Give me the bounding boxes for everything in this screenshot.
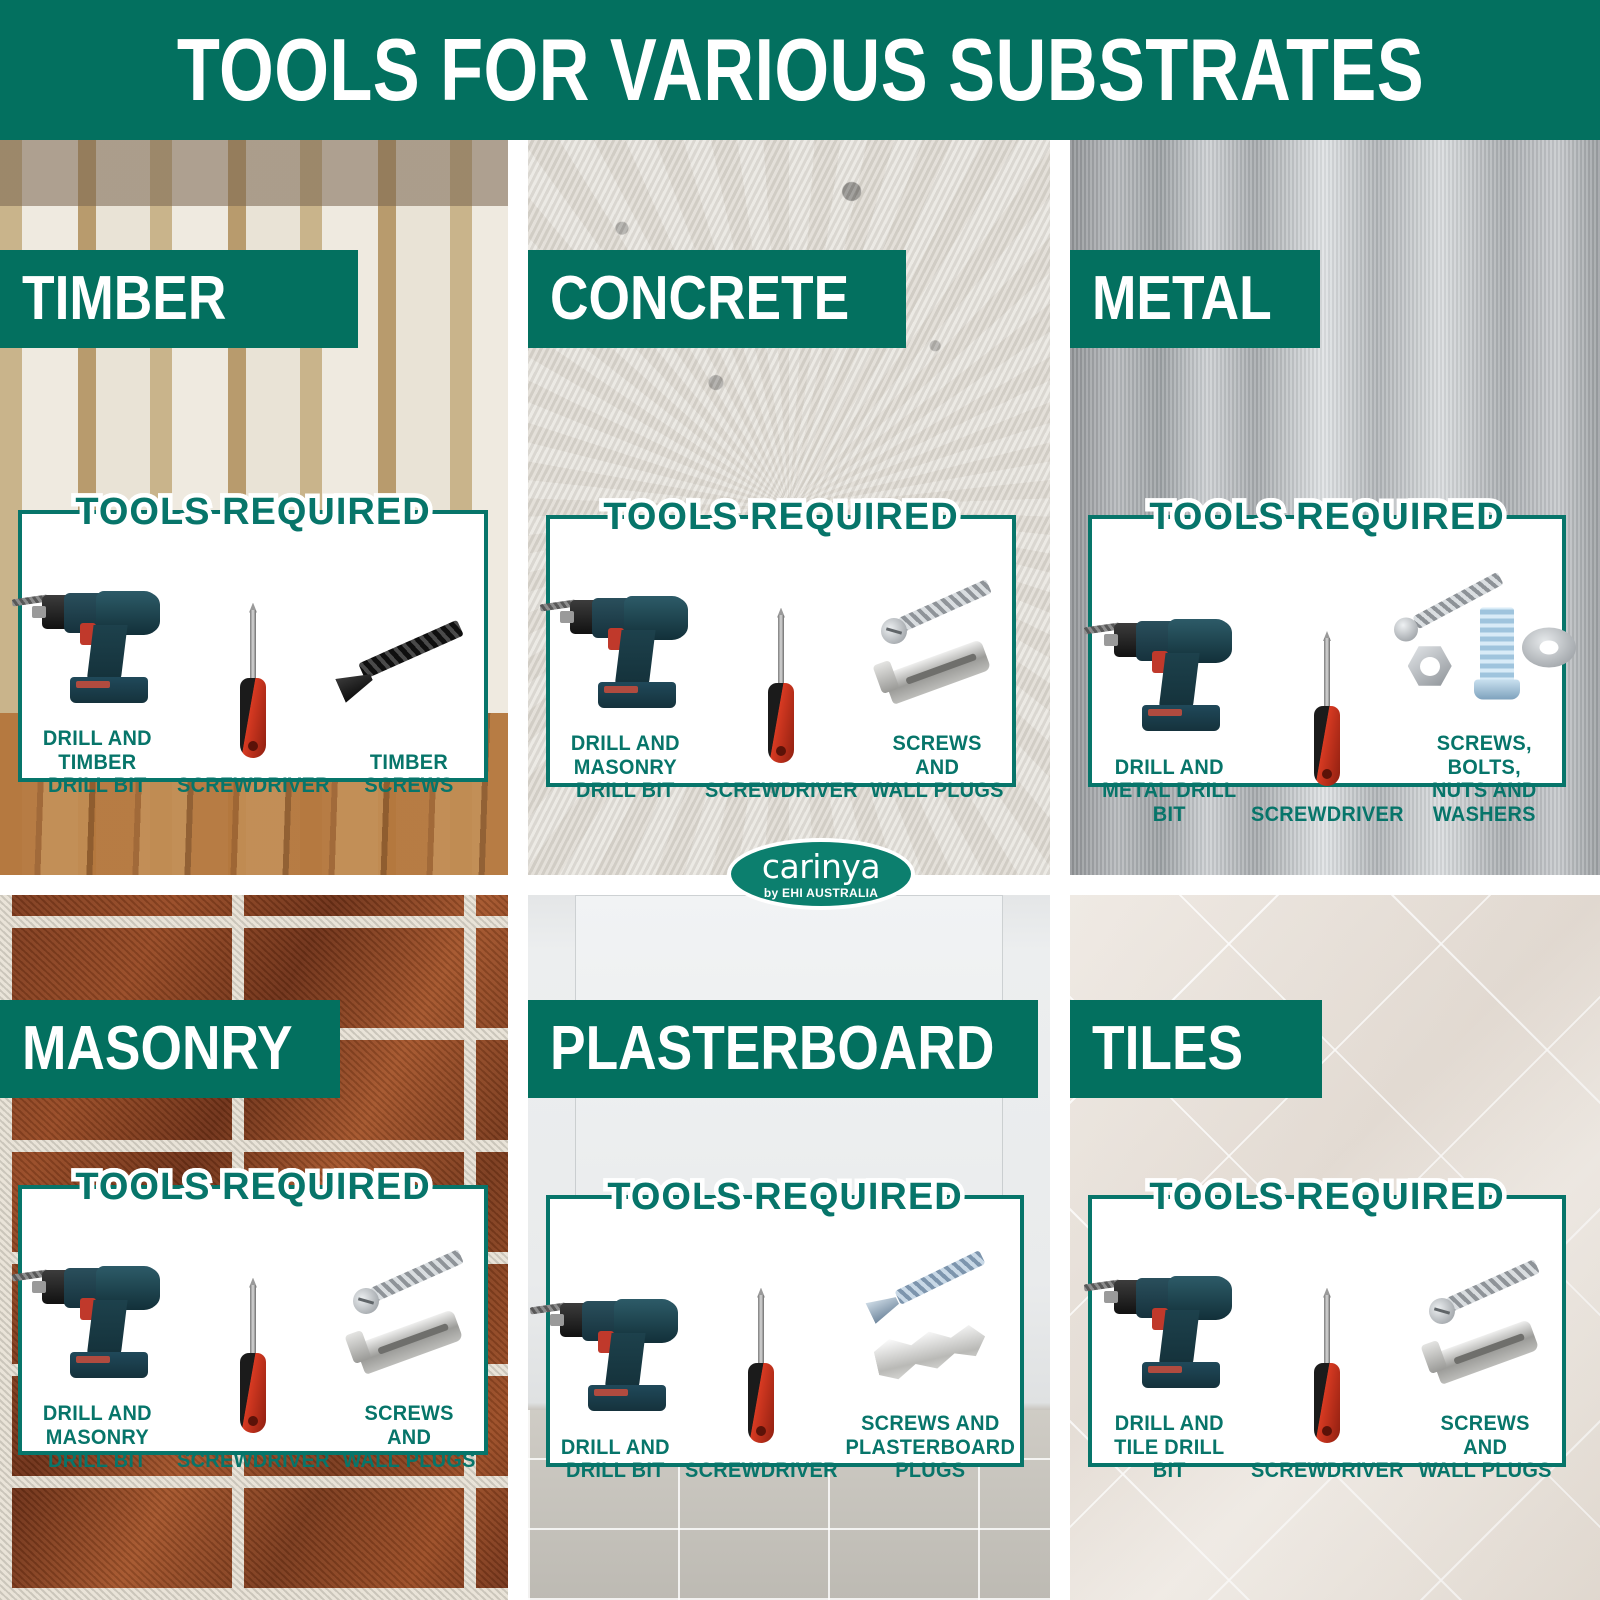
- tool-label: SCREWS AND PLASTERBOARD PLUGS: [846, 1412, 1016, 1483]
- tool-item: DRILL AND TILE DRILL BIT: [1092, 1245, 1247, 1483]
- drill-icon: [1092, 1245, 1247, 1400]
- substrate-label-plasterboard: PLASTERBOARD: [528, 1000, 1038, 1098]
- screw-and-plasterboard-plug-icon: [841, 1245, 1020, 1400]
- tool-label: SCREWDRIVER: [1251, 1459, 1404, 1483]
- tool-item: SCREWDRIVER: [1247, 565, 1408, 826]
- screwdriver-icon: [173, 607, 334, 762]
- panel-tiles[interactable]: TILES TOOLS REQUIRED DRILL AND TILE DRIL…: [1070, 895, 1600, 1600]
- tool-item: SCREWDRIVER: [701, 565, 862, 803]
- panel-plasterboard[interactable]: PLASTERBOARD TOOLS REQUIRED DRILL AND DR…: [528, 895, 1050, 1600]
- tool-label: DRILL AND MASONRY DRILL BIT: [571, 732, 680, 803]
- substrate-label-metal: METAL: [1070, 250, 1320, 348]
- tool-item: SCREWDRIVER: [173, 1235, 334, 1473]
- screwdriver-icon: [1247, 636, 1408, 791]
- tool-item: SCREWDRIVER: [1247, 1245, 1408, 1483]
- drill-icon: [22, 1235, 173, 1390]
- tools-required-heading: TOOLS REQUIRED: [65, 490, 440, 537]
- tools-card-masonry: TOOLS REQUIRED DRILL AND MASONRY DRILL B…: [18, 1185, 488, 1455]
- tools-card-plasterboard: TOOLS REQUIRED DRILL AND DRILL BIT: [546, 1195, 1024, 1467]
- substrate-label-text: TILES: [1092, 1018, 1243, 1080]
- tool-item: DRILL AND MASONRY DRILL BIT: [22, 1235, 173, 1473]
- tool-label: SCREWDRIVER: [705, 779, 858, 803]
- tool-label: SCREWS, BOLTS, NUTS AND WASHERS: [1411, 732, 1558, 826]
- screwdriver-icon: [681, 1292, 842, 1447]
- tool-item: SCREWDRIVER: [173, 560, 334, 798]
- tool-item: SCREWS AND PLASTERBOARD PLUGS: [841, 1245, 1020, 1483]
- tool-item: DRILL AND METAL DRILL BIT: [1092, 565, 1247, 826]
- tools-row: DRILL AND TILE DRILL BIT SCREWDRIVER: [1092, 1245, 1562, 1483]
- tools-required-heading: TOOLS REQUIRED: [1139, 495, 1514, 542]
- drill-icon: [550, 565, 701, 720]
- screw-and-wall-plug-icon: [1407, 1245, 1562, 1400]
- tool-label: DRILL AND TILE DRILL BIT: [1096, 1412, 1243, 1483]
- tool-label: SCREWS AND WALL PLUGS: [870, 732, 1003, 803]
- tool-label: SCREWDRIVER: [685, 1459, 838, 1483]
- tool-item: SCREWS AND WALL PLUGS: [333, 1235, 484, 1473]
- tools-card-tiles: TOOLS REQUIRED DRILL AND TILE DRILL BIT: [1088, 1195, 1566, 1467]
- drill-icon: [550, 1269, 681, 1424]
- tools-row: DRILL AND DRILL BIT SCREWDRIVER: [550, 1245, 1020, 1483]
- tools-required-heading: TOOLS REQUIRED: [1139, 1175, 1514, 1222]
- tool-label: DRILL AND METAL DRILL BIT: [1096, 756, 1243, 827]
- screw-and-wall-plug-icon: [861, 565, 1012, 720]
- tool-label: SCREWDRIVER: [177, 774, 330, 798]
- tools-card-metal: TOOLS REQUIRED DRILL AND METAL DRILL BIT: [1088, 515, 1566, 787]
- tools-row: DRILL AND METAL DRILL BIT SCREWDRIVER: [1092, 565, 1562, 826]
- tools-required-heading: TOOLS REQUIRED: [593, 495, 968, 542]
- screwdriver-icon: [701, 612, 862, 767]
- substrate-label-tiles: TILES: [1070, 1000, 1322, 1098]
- tool-label: SCREWDRIVER: [177, 1449, 330, 1473]
- substrate-label-text: TIMBER: [22, 268, 226, 330]
- carinya-logo[interactable]: carinya by EHI AUSTRALIA: [727, 838, 915, 910]
- tool-item: SCREWDRIVER: [681, 1245, 842, 1483]
- tool-label: TIMBER SCREWS: [364, 751, 453, 798]
- screwdriver-icon: [1247, 1292, 1408, 1447]
- tools-required-heading: TOOLS REQUIRED: [65, 1165, 440, 1212]
- tools-row: DRILL AND MASONRY DRILL BIT SCREWDRIVER: [550, 565, 1012, 803]
- page-title: TOOLS FOR VARIOUS SUBSTRATES: [176, 26, 1423, 114]
- panel-timber[interactable]: TIMBER TOOLS REQUIRED DRILL AND TIMBER D…: [0, 140, 508, 875]
- tools-row: DRILL AND TIMBER DRILL BIT SCREWDRIVER: [22, 560, 484, 798]
- substrate-label-text: CONCRETE: [550, 268, 849, 330]
- substrate-label-timber: TIMBER: [0, 250, 358, 348]
- substrate-label-text: MASONRY: [22, 1018, 293, 1080]
- tools-row: DRILL AND MASONRY DRILL BIT SCREWDRIVER: [22, 1235, 484, 1473]
- panel-concrete[interactable]: CONCRETE TOOLS REQUIRED DRILL AND MASONR…: [528, 140, 1050, 875]
- tool-label: DRILL AND MASONRY DRILL BIT: [43, 1402, 152, 1473]
- tools-card-timber: TOOLS REQUIRED DRILL AND TIMBER DRILL BI…: [18, 510, 488, 782]
- drill-icon: [1092, 589, 1247, 744]
- tool-item: TIMBER SCREWS: [333, 560, 484, 798]
- timber-screw-icon: [333, 584, 484, 739]
- substrate-label-masonry: MASONRY: [0, 1000, 340, 1098]
- drill-icon: [22, 560, 173, 715]
- tool-item: SCREWS AND WALL PLUGS: [1407, 1245, 1562, 1483]
- panel-masonry[interactable]: MASONRY TOOLS REQUIRED DRILL AND MASONRY…: [0, 895, 508, 1600]
- screwdriver-icon: [173, 1282, 334, 1437]
- screws-bolts-nuts-washers-icon: [1407, 565, 1562, 720]
- logo-tagline: by EHI AUSTRALIA: [764, 887, 878, 899]
- tool-item: SCREWS, BOLTS, NUTS AND WASHERS: [1407, 565, 1562, 826]
- tool-label: DRILL AND TIMBER DRILL BIT: [43, 727, 152, 798]
- logo-wordmark: carinya: [762, 850, 880, 883]
- tool-label: DRILL AND DRILL BIT: [561, 1436, 670, 1483]
- tools-card-concrete: TOOLS REQUIRED DRILL AND MASONRY DRILL B…: [546, 515, 1016, 787]
- tool-label: SCREWS AND WALL PLUGS: [342, 1402, 475, 1473]
- substrate-label-text: METAL: [1092, 268, 1272, 330]
- tool-label: SCREWS AND WALL PLUGS: [1418, 1412, 1551, 1483]
- substrate-label-text: PLASTERBOARD: [550, 1018, 994, 1080]
- tool-item: DRILL AND TIMBER DRILL BIT: [22, 560, 173, 798]
- page-header: TOOLS FOR VARIOUS SUBSTRATES: [0, 0, 1600, 140]
- substrate-label-concrete: CONCRETE: [528, 250, 906, 348]
- panel-metal[interactable]: METAL TOOLS REQUIRED DRILL AND METAL DRI…: [1070, 140, 1600, 875]
- tool-item: DRILL AND MASONRY DRILL BIT: [550, 565, 701, 803]
- tool-item: DRILL AND DRILL BIT: [550, 1245, 681, 1483]
- tools-required-heading: TOOLS REQUIRED: [597, 1175, 972, 1222]
- tool-item: SCREWS AND WALL PLUGS: [861, 565, 1012, 803]
- screw-and-wall-plug-icon: [333, 1235, 484, 1390]
- tool-label: SCREWDRIVER: [1251, 803, 1404, 827]
